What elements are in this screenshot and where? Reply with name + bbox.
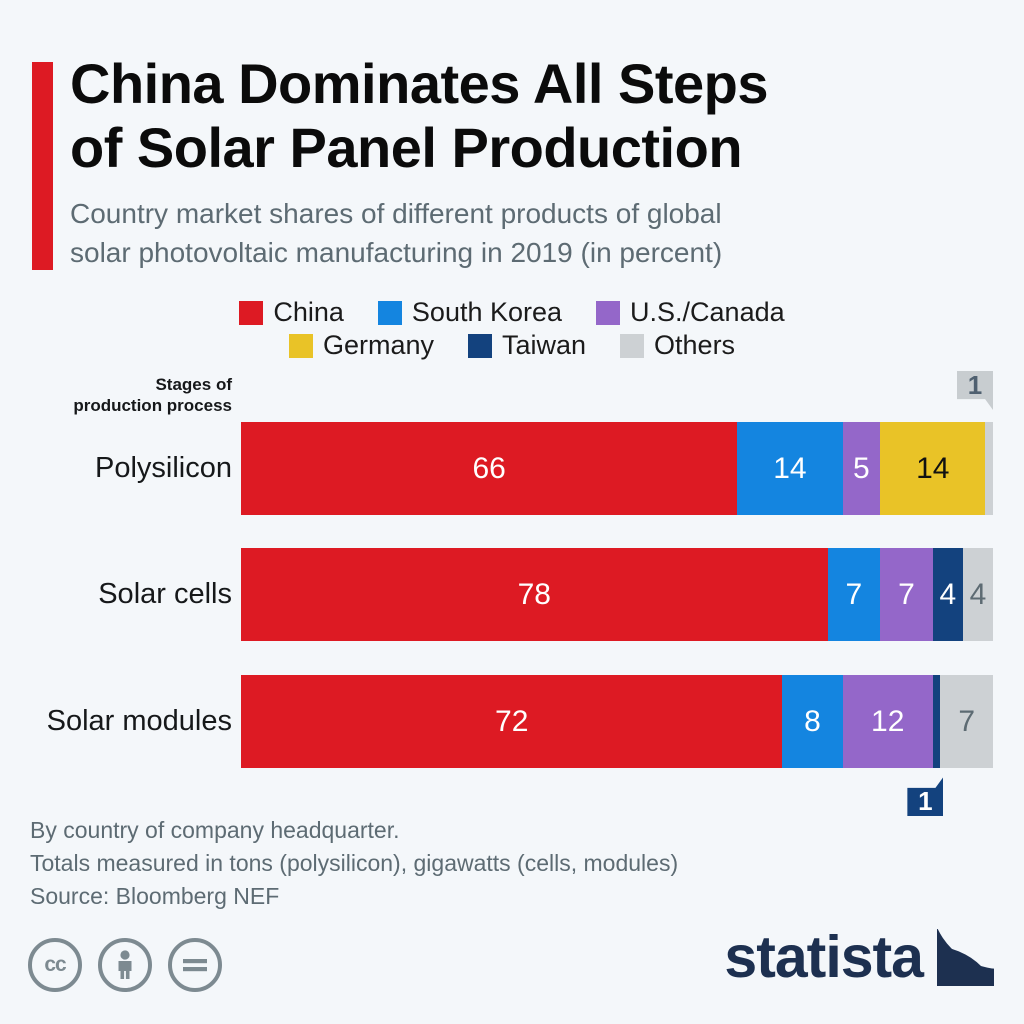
no-derivatives-equals-icon[interactable] [168,938,222,992]
bar-track: 728127 [241,675,993,768]
bar-segment[interactable] [933,675,941,768]
bar-segment[interactable]: 78 [241,548,828,641]
statista-mark-icon [937,929,994,986]
creative-commons-icons: cc [28,938,222,992]
bar-segment[interactable]: 14 [880,422,985,515]
bar-segment[interactable]: 7 [828,548,881,641]
bar-row: Solar cells787744 [0,548,1024,641]
bar-segment-value: 7 [898,578,915,612]
bar-segment-value: 4 [940,578,957,612]
bar-segment[interactable]: 8 [782,675,842,768]
bar-segment-value: 4 [970,578,987,612]
bar-category-label: Solar modules [0,675,232,768]
bar-segment[interactable] [985,422,993,515]
bar-track: 787744 [241,548,993,641]
statista-logo[interactable]: statista [724,928,994,987]
bar-segment-value: 78 [518,578,551,612]
bar-track: 6614514 [241,422,993,515]
bar-segment[interactable]: 4 [933,548,963,641]
bar-segment-value: 14 [916,452,949,486]
bar-segment-value: 72 [495,705,528,739]
bar-row: Polysilicon6614514 [0,422,1024,515]
bar-segment[interactable]: 12 [843,675,933,768]
bar-segment[interactable]: 4 [963,548,993,641]
value-callout-text: 1 [968,370,982,401]
bar-segment-value: 8 [804,705,821,739]
bar-segment[interactable]: 66 [241,422,737,515]
bar-segment[interactable]: 7 [880,548,933,641]
bar-row: Solar modules728127 [0,675,1024,768]
bar-segment-value: 12 [871,705,904,739]
bar-segment[interactable]: 72 [241,675,782,768]
value-callout-others: 1 [957,371,993,410]
value-callout-taiwan: 1 [907,777,943,816]
bar-category-label: Polysilicon [0,422,232,515]
bar-segment[interactable]: 5 [843,422,881,515]
bar-segment-value: 66 [472,452,505,486]
cc-icon[interactable]: cc [28,938,82,992]
footer-notes: By country of company headquarter. Total… [30,814,678,913]
bar-segment-value: 7 [846,578,863,612]
statista-wordmark: statista [724,928,923,987]
bar-segment[interactable]: 14 [737,422,842,515]
attribution-person-icon[interactable] [98,938,152,992]
bar-segment[interactable]: 7 [940,675,993,768]
bar-segment-value: 14 [773,452,806,486]
value-callout-text: 1 [918,786,932,817]
bar-segment-value: 5 [853,452,870,486]
bar-category-label: Solar cells [0,548,232,641]
bar-segment-value: 7 [958,705,975,739]
infographic-canvas: China Dominates All Steps of Solar Panel… [0,0,1024,1024]
